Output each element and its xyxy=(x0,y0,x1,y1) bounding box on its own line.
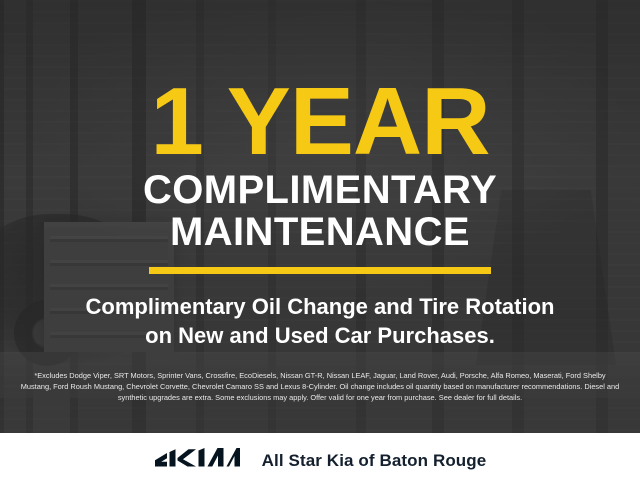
headline-complimentary: COMPLIMENTARY xyxy=(143,170,497,212)
offer-description-line-1: Complimentary Oil Change and Tire Rotati… xyxy=(86,292,555,321)
yellow-divider-rule xyxy=(149,267,491,274)
headline-maintenance: MAINTENANCE xyxy=(170,212,470,254)
headline-year: 1 YEAR xyxy=(150,78,489,166)
kia-logo-icon xyxy=(154,445,240,476)
ad-content: 1 YEAR COMPLIMENTARY MAINTENANCE Complim… xyxy=(0,0,640,433)
disclaimer-fine-print: *Excludes Dodge Viper, SRT Motors, Sprin… xyxy=(20,370,620,404)
dealer-name: All Star Kia of Baton Rouge xyxy=(262,451,487,471)
footer-bar: All Star Kia of Baton Rouge xyxy=(0,433,640,488)
offer-description-line-2: on New and Used Car Purchases. xyxy=(145,321,495,350)
advertisement-banner: 1 YEAR COMPLIMENTARY MAINTENANCE Complim… xyxy=(0,0,640,488)
